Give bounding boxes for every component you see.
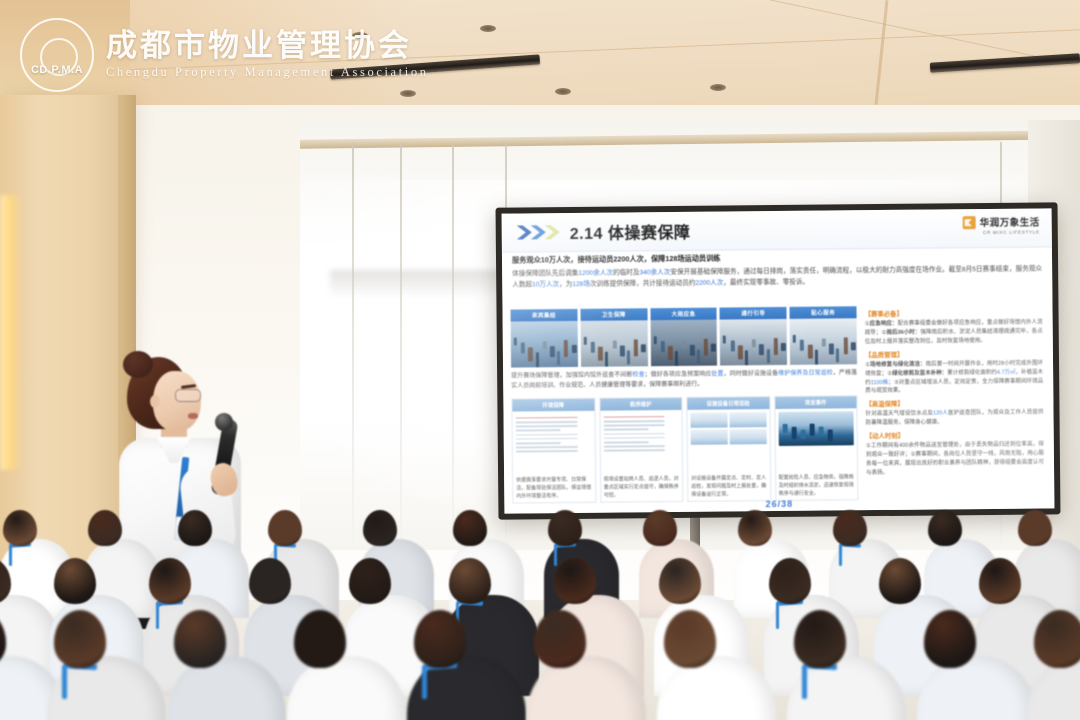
card-title: 设施设备日常巡检 (687, 397, 769, 410)
photo-label: 来宾集结 (510, 309, 577, 322)
audience-member-head (979, 558, 1021, 604)
speaker-hair-bun (123, 351, 153, 378)
photo-cell: 通行引导 (720, 307, 787, 366)
crowd-photo-icon (511, 321, 578, 368)
audience-member-head (178, 510, 211, 546)
slide-left-column: 来宾集结卫生保障大雨应急通行引导贴心服务 提升赛场保障管理，加强馆内馆外巡查不间… (510, 306, 858, 504)
doc-line (603, 433, 665, 435)
audience-member-head (268, 510, 301, 546)
doc-line (516, 417, 578, 419)
double-chevron-right-icon (516, 223, 562, 241)
watermark-org-cn: 成都市物业管理协会 (106, 30, 429, 63)
speaker-ear (150, 395, 160, 408)
slide-title: 2.14 体操赛保障 (570, 219, 691, 244)
slide-paragraph: 体操保障团队先后调集1200余人次的临时及340余人次安保开展基础保障服务，通过… (512, 264, 1042, 290)
audience-member-head (659, 558, 701, 604)
doc-line (516, 446, 578, 448)
audience-member-head (249, 558, 291, 604)
rain-emergency-photo-icon (650, 320, 717, 367)
audience-member-head (3, 510, 36, 546)
photo-label: 大雨应急 (650, 308, 717, 321)
cleaning-photo-icon (580, 320, 647, 367)
service-photo-icon (790, 318, 857, 365)
audience-group (0, 480, 1080, 720)
glasses-icon (175, 389, 201, 402)
section-body: ①工作期间有400余件物品送至管理处，由于丢失物品归还到位率高，得到观众一致好评… (866, 441, 1044, 478)
association-seal-icon: CD.P.M.A (20, 18, 94, 92)
section-heading: 【高温保障】 (865, 398, 1043, 409)
doc-line (603, 429, 648, 431)
audience-lanyard (422, 665, 427, 700)
audience-lanyard (839, 544, 842, 566)
audience-member-head (548, 510, 581, 546)
doc-line (516, 438, 578, 440)
audience-member-head (453, 510, 486, 546)
doc-line (603, 424, 665, 426)
presentation-photo-scene: 2.14 体操赛保障 华润万象生活 CR MIXC LIFESTYLE 服务观众… (0, 0, 1080, 720)
audience-member-head (1018, 510, 1051, 546)
slide: 2.14 体操赛保障 华润万象生活 CR MIXC LIFESTYLE 服务观众… (502, 208, 1055, 513)
photo-label: 通行引导 (720, 307, 787, 320)
audience-member-head (879, 558, 921, 604)
doc-line (516, 425, 578, 427)
photo-label: 贴心服务 (790, 306, 857, 319)
column-light-strip (0, 195, 22, 470)
audience-lanyard (776, 602, 780, 630)
photo-cell: 大雨应急 (650, 308, 717, 367)
slide-header: 2.14 体操赛保障 华润万象生活 CR MIXC LIFESTYLE (502, 208, 1052, 252)
watermark: CD.P.M.A 成都市物业管理协会 Chengdu Property Mana… (20, 18, 429, 92)
presentation-screen: 2.14 体操赛保障 华润万象生活 CR MIXC LIFESTYLE 服务观众… (496, 202, 1061, 519)
photo-strip: 来宾集结卫生保障大雨应急通行引导贴心服务 (510, 306, 857, 367)
doc-line (516, 421, 578, 423)
audience-member-head (449, 558, 491, 604)
section-body: ①场地修复与绿化清洁：雨后第一时间开展作业，用时28小时完成外围环境恢复；②绿化… (865, 359, 1043, 396)
audience-member-head (363, 510, 396, 546)
doc-line (516, 442, 561, 444)
card-photo (778, 411, 854, 446)
guidance-photo-icon (720, 319, 787, 366)
card-body (512, 411, 594, 476)
doc-line (516, 450, 578, 452)
section-heading: 【动人时刻】 (866, 430, 1044, 441)
audience-member-head (294, 610, 347, 668)
watermark-org-en: Chengdu Property Management Association (106, 65, 429, 80)
doc-line (603, 420, 665, 422)
doc-line (603, 445, 665, 447)
doc-line (603, 416, 665, 418)
audience-member-head (643, 510, 676, 546)
audience-member-head (924, 610, 977, 668)
section-body: ①应急响应：配合赛事组委会做好各项应急响应，重点做好场馆内外人流疏导；②雨后36… (865, 318, 1043, 346)
audience-member-head (349, 558, 391, 604)
ceiling-downlight (480, 25, 496, 32)
doc-line (516, 433, 578, 435)
doc-line (603, 437, 665, 439)
audience-lanyard (802, 665, 807, 700)
card-body (687, 409, 769, 474)
audience-lanyard (62, 665, 67, 700)
audience-member-head (928, 510, 961, 546)
audience-member-head (554, 558, 596, 604)
slide-right-column: 【赛事必备】①应急响应：配合赛事组委会做好各项应急响应，重点做好场馆内外人流疏导… (864, 304, 1048, 478)
section-heading: 【品质管理】 (865, 348, 1043, 359)
card-body (775, 408, 857, 473)
audience-lanyard (554, 544, 557, 566)
audience-member-head (833, 510, 866, 546)
photo-cell: 卫生保障 (580, 308, 647, 367)
card-title: 秩序维护 (600, 398, 682, 411)
card-thumbnail (691, 430, 728, 445)
card-thumbnail (729, 429, 766, 444)
card-title: 环境保障 (512, 399, 594, 412)
audience-member-head (738, 510, 771, 546)
card-body (600, 410, 682, 475)
photo-cell: 贴心服务 (790, 306, 857, 365)
card-thumbnail (690, 413, 727, 428)
audience-lanyard (9, 544, 12, 566)
audience-member-head (88, 510, 121, 546)
emblem-abbreviation: CD.P.M.A (31, 64, 83, 76)
slide-summary: 服务观众10万人次，接待运动员2200人次，保障128场运动员训练 (512, 250, 1042, 265)
brand-name-cn: 华润万象生活 (980, 214, 1040, 229)
audience-member-head (149, 558, 191, 604)
slide-mid-text: 提升赛场保障管理，加强馆内馆外巡查不间断检查；做好各项应急预案响应处置，同时做好… (511, 369, 857, 392)
photo-label: 卫生保障 (580, 308, 647, 321)
ceiling-downlight (710, 84, 726, 91)
doc-line (603, 449, 665, 451)
section-body: 针对高温天气增设饮水点及120人医护巡查团队，为观众及工作人员提供防暑降温服务，… (865, 409, 1043, 429)
brand-logo-icon (963, 216, 976, 229)
ceiling-downlight (555, 88, 571, 95)
section-heading: 【赛事必备】 (865, 307, 1043, 318)
card-thumbnail (729, 412, 766, 427)
audience-lanyard (156, 602, 160, 630)
brand-name-en: CR MIXC LIFESTYLE (983, 229, 1040, 235)
audience-member-head (769, 558, 811, 604)
audience-member-head (54, 558, 96, 604)
brand-logo: 华润万象生活 (963, 214, 1040, 229)
photo-cell: 来宾集结 (510, 309, 577, 368)
doc-line (516, 429, 561, 431)
card-title: 突发事件 (775, 396, 857, 409)
doc-line (603, 441, 648, 443)
speaker-mouth (188, 413, 198, 419)
